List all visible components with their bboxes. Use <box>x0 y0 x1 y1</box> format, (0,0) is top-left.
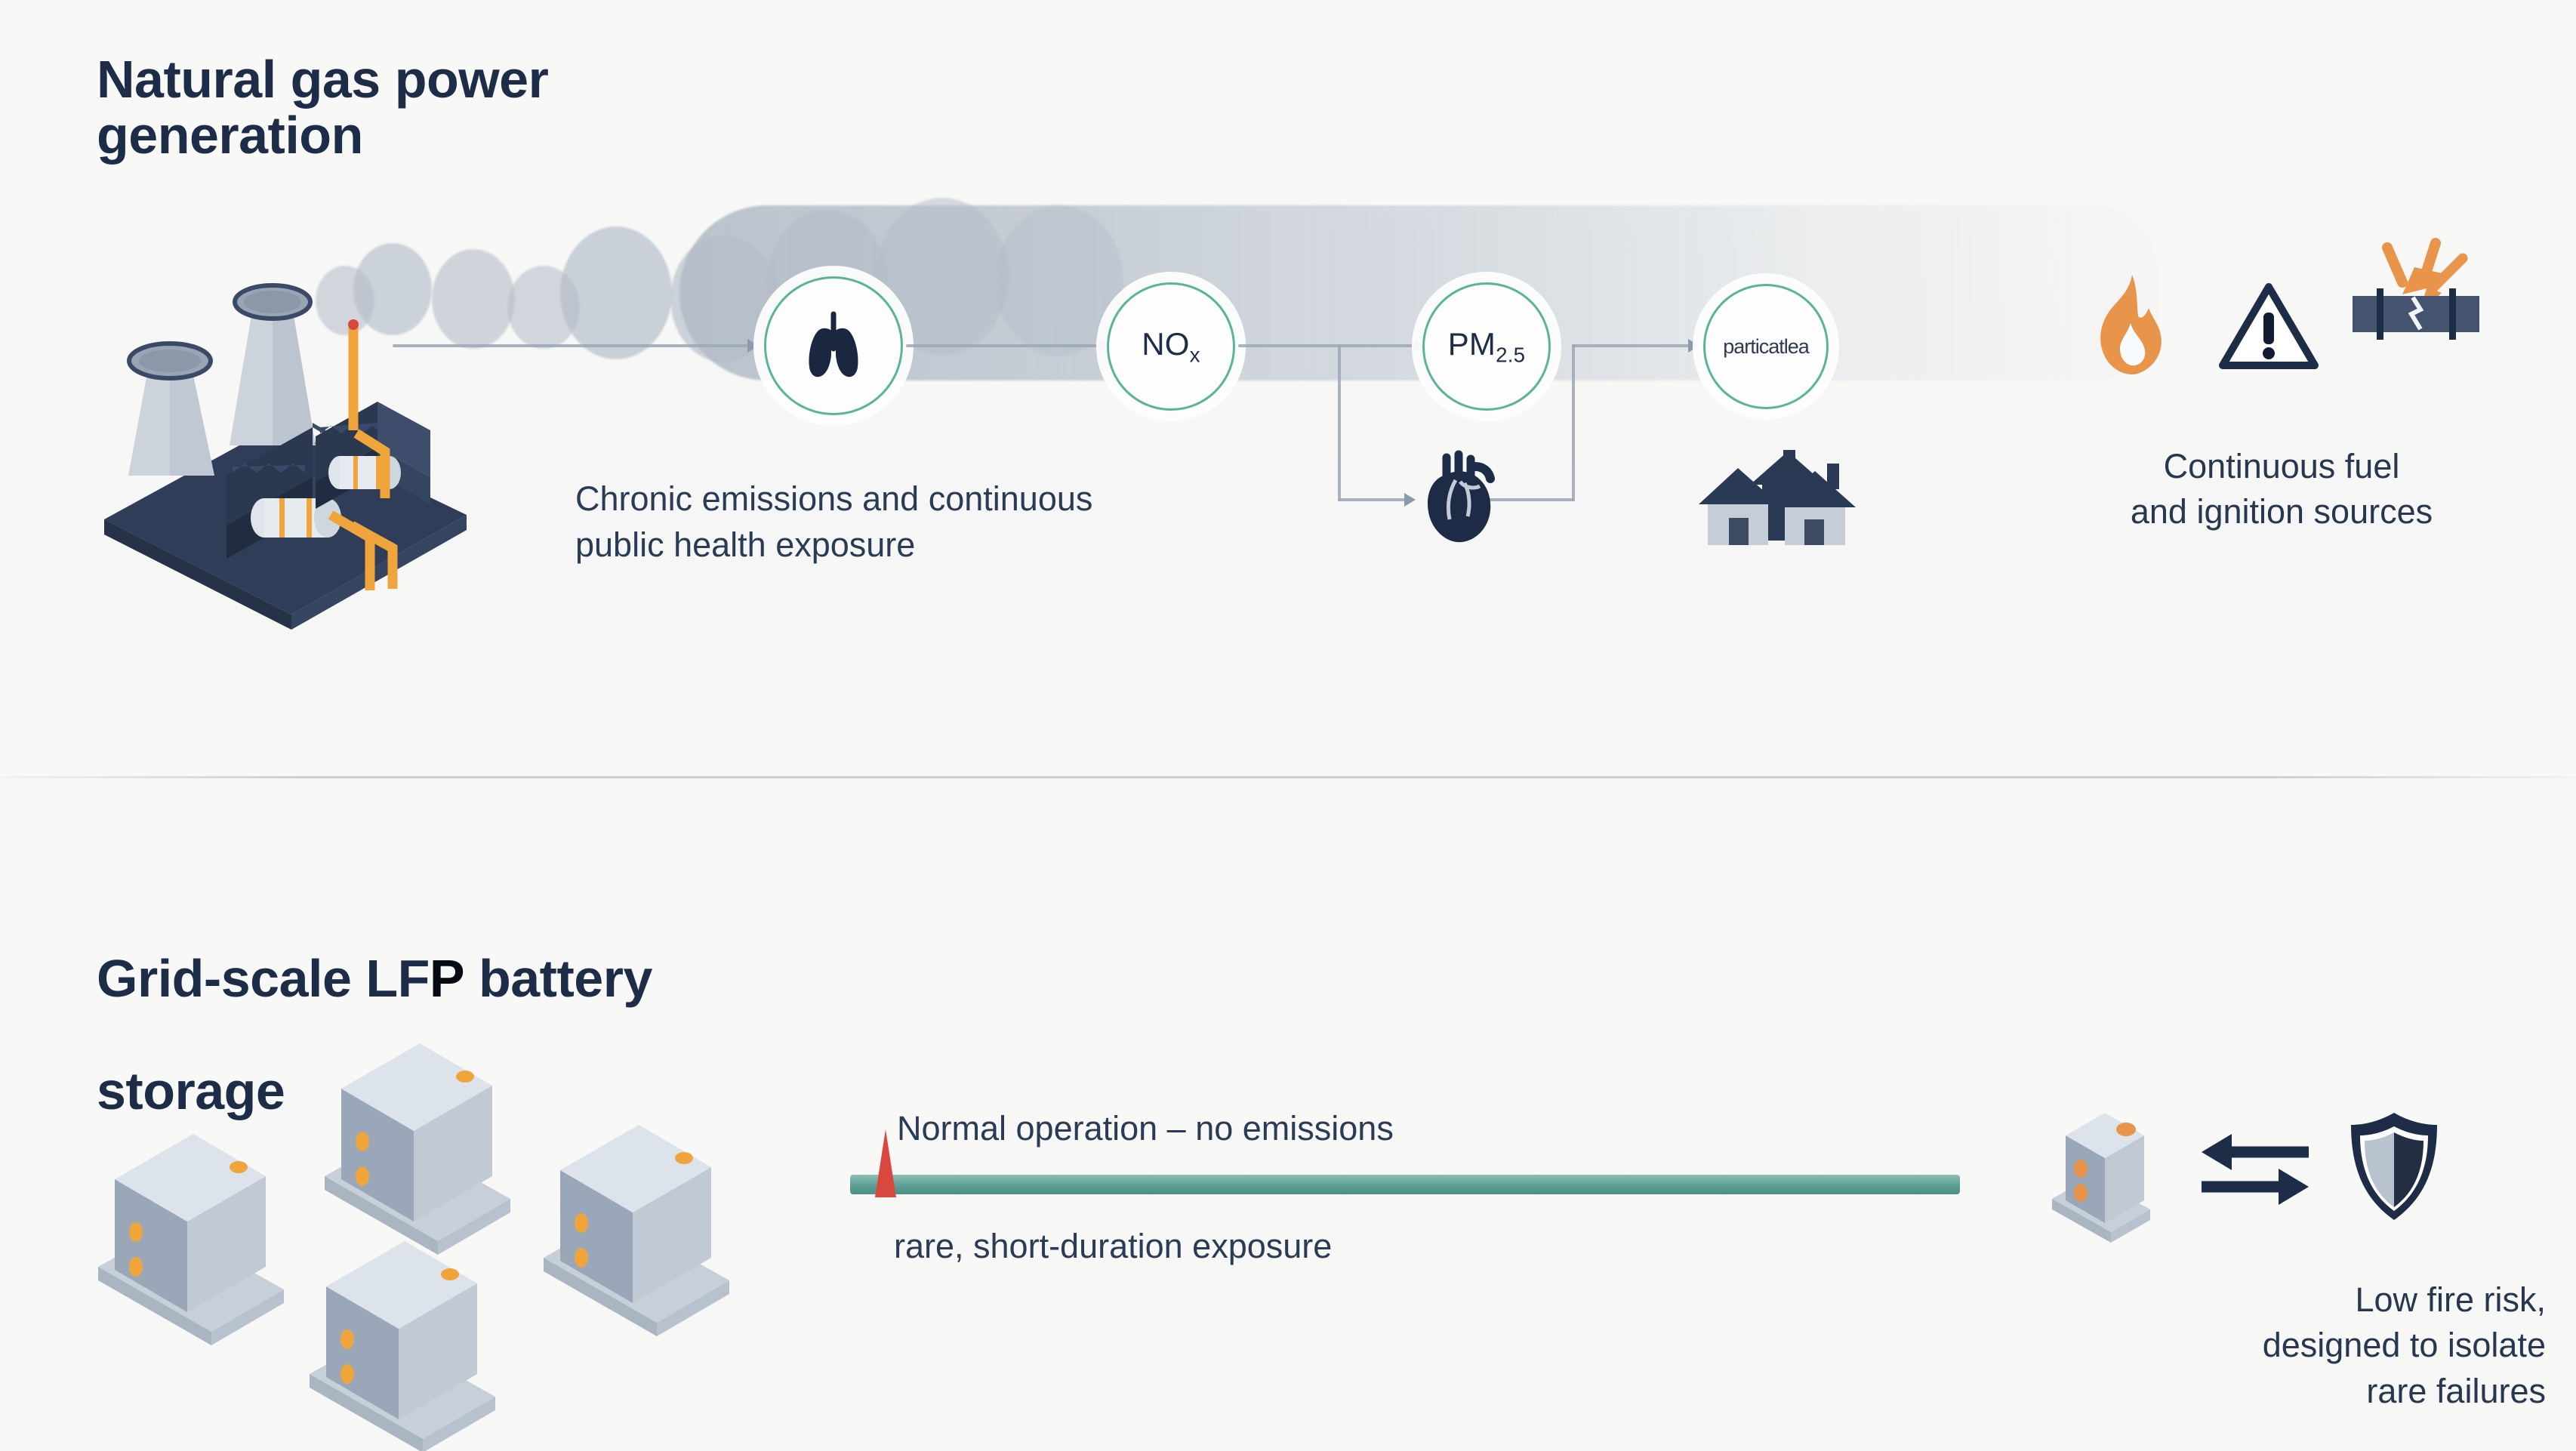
flow-connector-lungs-to-nox <box>906 344 1104 347</box>
emissions-baseline-bar <box>850 1175 1960 1194</box>
flow-node-nox[interactable]: NOx <box>1107 282 1235 411</box>
bidirectional-arrows-icon <box>2199 1128 2312 1211</box>
flow-node-particulates-label: particatlea <box>1723 335 1809 359</box>
battery-cabinet-icon <box>2048 1104 2168 1231</box>
bess-heading-pre: Grid-scale LF <box>97 949 430 1008</box>
bess-heading-p-glyph: P <box>430 949 464 1008</box>
rare-exposure-spike <box>875 1129 896 1197</box>
bess-right-caption: Low fire risk, designed to isolate rare … <box>2048 1277 2546 1414</box>
flow-connector-plant-to-lungs <box>393 344 747 347</box>
section-natural-gas: Natural gas power generation <box>0 0 2576 778</box>
flow-node-particulates[interactable]: particatlea <box>1703 284 1829 409</box>
smoke-puff <box>670 236 778 362</box>
smoke-puff <box>995 205 1123 356</box>
flow-connector-nox-to-pm25 <box>1238 344 1419 347</box>
flow-arrowhead <box>1404 493 1416 507</box>
lfp-battery-containers-illustration <box>98 1028 725 1451</box>
flow-branch-vertical-from-heart <box>1572 344 1575 501</box>
section-divider <box>0 776 2576 778</box>
flow-node-pm25-label: PM2.5 <box>1448 326 1526 367</box>
timeline-bottom-label: rare, short-duration exposure <box>894 1223 1332 1269</box>
gas-right-caption: Continuous fuel and ignition sources <box>2048 444 2516 535</box>
flow-branch-vertical-to-heart <box>1338 344 1341 501</box>
smoke-puff <box>560 226 672 359</box>
warning-triangle-icon <box>2218 281 2319 373</box>
heart-icon <box>1421 450 1502 547</box>
flow-branch-to-heart <box>1338 498 1407 501</box>
lungs-icon <box>799 310 868 382</box>
flow-connector-pm25-to-particulates <box>1572 344 1693 347</box>
pipe-rupture-icon <box>2348 242 2484 362</box>
flow-node-lungs[interactable] <box>764 276 903 415</box>
gas-body-copy: Chronic emissions and continuous public … <box>575 476 1300 568</box>
gas-section-heading: Natural gas power generation <box>97 51 548 163</box>
bess-heading-post: battery <box>464 949 652 1008</box>
section-lfp-storage: Grid-scale LFP battery storage <box>0 779 2576 1449</box>
flow-node-pm25[interactable]: PM2.5 <box>1422 282 1551 411</box>
houses-icon <box>1699 448 1857 551</box>
flame-icon <box>2090 273 2171 379</box>
flow-arrowhead <box>1688 339 1699 353</box>
flow-arrowhead <box>747 339 759 353</box>
shield-icon <box>2346 1110 2442 1223</box>
timeline-top-label: Normal operation – no emissions <box>897 1105 1394 1151</box>
natural-gas-power-plant-illustration <box>89 249 482 596</box>
infographic-canvas: Natural gas power generation <box>0 0 2576 1449</box>
flow-node-nox-label: NOx <box>1142 326 1200 367</box>
